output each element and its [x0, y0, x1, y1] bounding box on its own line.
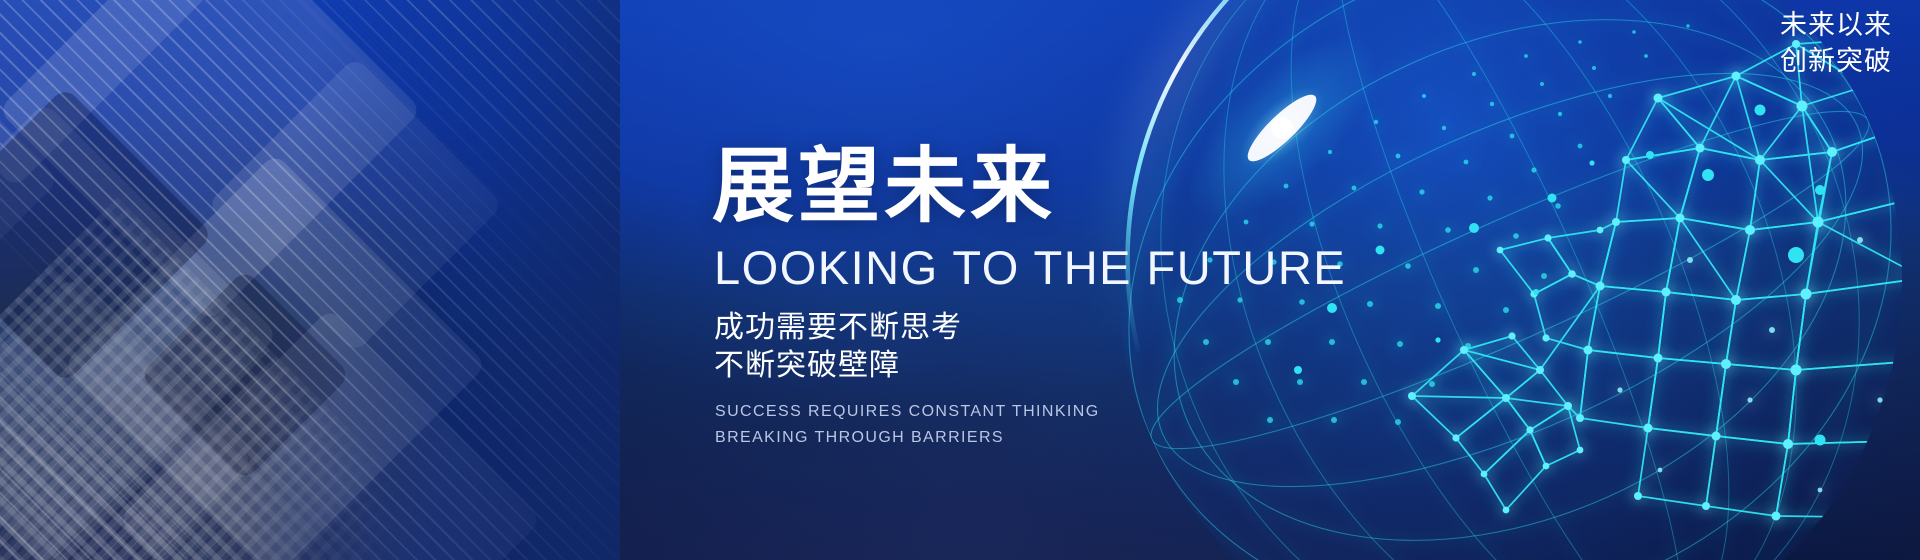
headline-en-subtitle-line2: BREAKING THROUGH BARRIERS: [715, 425, 1452, 451]
headline-cn-subtitle-line1: 成功需要不断思考: [714, 309, 1452, 347]
corner-slogan-line2: 创新突破: [1780, 44, 1892, 80]
headline-block: 展望未来 LOOKING TO THE FUTURE 成功需要不断思考 不断突破…: [712, 146, 1452, 452]
headline-en-title: LOOKING TO THE FUTURE: [714, 244, 1452, 291]
headline-cn-subtitle: 成功需要不断思考 不断突破壁障: [714, 309, 1452, 386]
headline-cn-subtitle-line2: 不断突破壁障: [714, 347, 1452, 385]
left-geometric-art: [0, 0, 620, 560]
headline-en-subtitle-line1: SUCCESS REQUIRES CONSTANT THINKING: [715, 399, 1452, 425]
corner-slogan-line1: 未来以来: [1780, 8, 1892, 44]
banner-root: 未来以来 创新突破 展望未来 LOOKING TO THE FUTURE 成功需…: [0, 0, 1920, 560]
headline-cn-title: 展望未来: [712, 146, 1452, 228]
corner-slogan: 未来以来 创新突破: [1780, 8, 1892, 81]
left-art-fade: [0, 0, 620, 560]
headline-en-subtitle: SUCCESS REQUIRES CONSTANT THINKING BREAK…: [715, 399, 1452, 452]
